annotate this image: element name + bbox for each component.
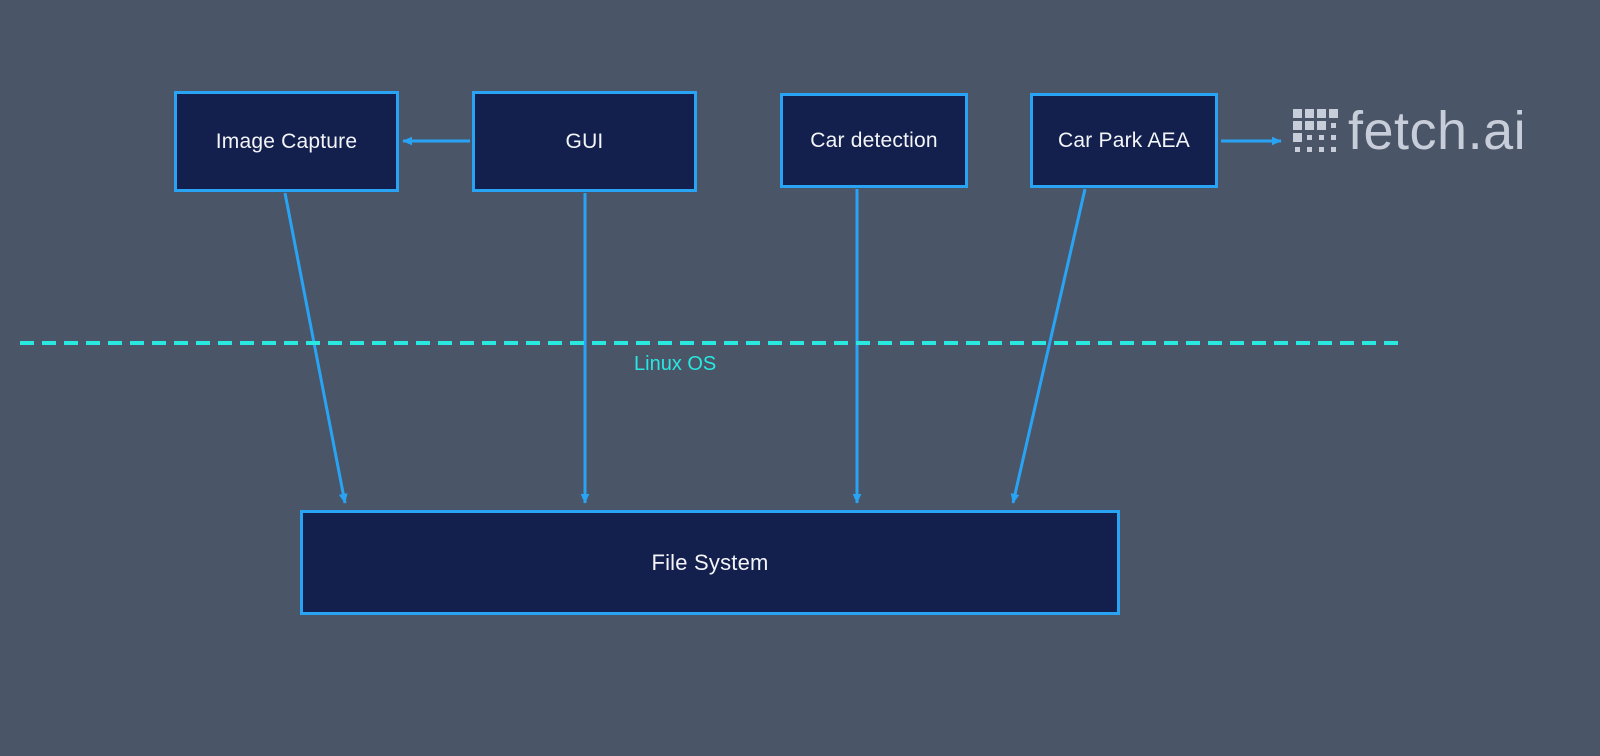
- node-image-capture[interactable]: Image Capture: [174, 91, 399, 192]
- node-label: GUI: [566, 130, 604, 154]
- node-car-detection[interactable]: Car detection: [780, 93, 968, 188]
- edge-car-park-aea-to-file-system: [1013, 189, 1085, 503]
- node-label: Car detection: [810, 129, 938, 153]
- node-label: Car Park AEA: [1058, 129, 1190, 153]
- node-file-system[interactable]: File System: [300, 510, 1120, 615]
- fetch-ai-logo: fetch.ai: [1292, 104, 1526, 158]
- linux-os-label: Linux OS: [634, 353, 716, 376]
- node-label: File System: [651, 550, 768, 576]
- node-label: Image Capture: [216, 130, 358, 154]
- node-car-park-aea[interactable]: Car Park AEA: [1030, 93, 1218, 188]
- edge-image-capture-to-file-system: [285, 193, 345, 503]
- fetch-ai-wordmark: fetch.ai: [1348, 104, 1526, 158]
- architecture-diagram: Image Capture GUI Car detection Car Park…: [0, 0, 1600, 756]
- node-gui[interactable]: GUI: [472, 91, 697, 192]
- dot-grid-icon: [1292, 108, 1338, 154]
